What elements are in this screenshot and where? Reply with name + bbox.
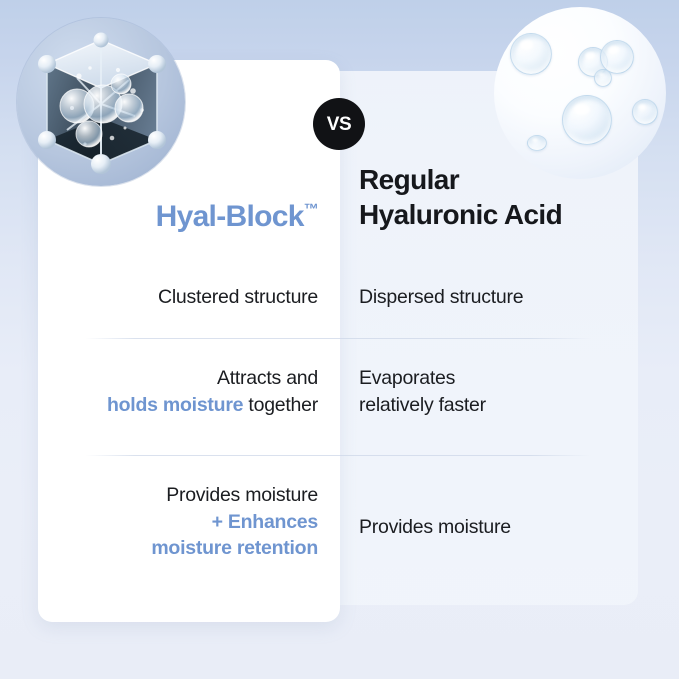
row-line: Evaporates [359, 365, 639, 392]
comparison-infographic: VS Hyal-Block™ Regular Hyaluronic Acid C… [0, 0, 679, 679]
plain-text: Evaporates [359, 367, 455, 389]
plain-text: Dispersed structure [359, 286, 523, 308]
plain-text: Clustered structure [158, 286, 318, 308]
regular-ha-title-line-2: Hyaluronic Acid [359, 197, 639, 232]
droplet [594, 69, 612, 87]
droplet [527, 135, 547, 151]
vs-badge-label: VS [327, 115, 352, 134]
droplet [562, 95, 612, 145]
hyal-block-title: Hyal-Block™ [38, 200, 340, 233]
row-line: moisture retention [38, 535, 318, 562]
left-row-structure: Clustered structure [38, 284, 340, 311]
plain-text: relatively faster [359, 394, 486, 416]
left-row-benefit: Provides moisture+ Enhancesmoisture rete… [38, 482, 340, 562]
right-row-benefit: Provides moisture [359, 514, 639, 541]
row-line: Provides moisture [359, 514, 639, 541]
highlighted-text: + Enhances [212, 511, 318, 533]
row-divider-1 [85, 338, 591, 339]
right-row-moisture-behavior: Evaporatesrelatively faster [359, 365, 639, 418]
regular-ha-title-line-1: Regular [359, 162, 639, 197]
regular-ha-title: Regular Hyaluronic Acid [359, 162, 639, 233]
droplet [510, 33, 552, 75]
row-line: holds moisture together [38, 392, 318, 419]
hyal-block-cube-molecule-icon [17, 18, 185, 186]
water-droplet-sphere-icon [494, 7, 666, 179]
right-row-structure: Dispersed structure [359, 284, 639, 311]
trademark-symbol: ™ [304, 201, 318, 218]
hyal-block-title-text: Hyal-Block [156, 200, 304, 233]
highlighted-text: holds moisture [107, 394, 243, 416]
plain-text: Attracts and [217, 367, 318, 389]
left-row-moisture-behavior: Attracts andholds moisture together [38, 365, 340, 418]
droplet [632, 99, 658, 125]
row-line: Clustered structure [38, 284, 318, 311]
plain-text: Provides moisture [166, 484, 318, 506]
row-line: Dispersed structure [359, 284, 639, 311]
row-line: relatively faster [359, 392, 639, 419]
highlighted-text: moisture retention [151, 537, 318, 559]
plain-text: Provides moisture [359, 516, 511, 538]
cube-molecule-illustration [17, 18, 185, 186]
plain-text: together [243, 394, 318, 416]
row-line: Provides moisture [38, 482, 318, 509]
row-line: + Enhances [38, 509, 318, 536]
vs-badge: VS [313, 98, 365, 150]
row-line: Attracts and [38, 365, 318, 392]
row-divider-2 [85, 455, 591, 456]
